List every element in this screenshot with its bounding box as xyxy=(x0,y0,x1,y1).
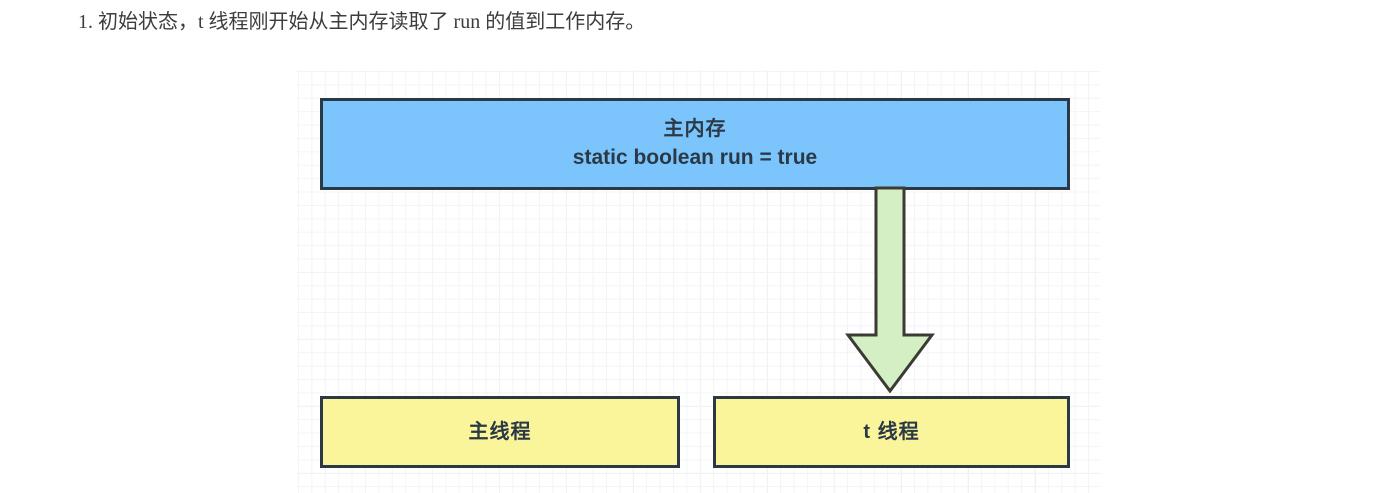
main-memory-declaration: static boolean run = true xyxy=(573,145,817,171)
main-memory-node: 主内存 static boolean run = true xyxy=(320,98,1070,190)
main-thread-node: 主线程 xyxy=(320,396,680,468)
read-arrow-icon xyxy=(846,188,934,393)
t-thread-node: t 线程 xyxy=(713,396,1070,468)
main-thread-label: 主线程 xyxy=(469,420,532,445)
memory-model-diagram: 主内存 static boolean run = true 主线程 t 线程 xyxy=(297,70,1100,493)
t-thread-label: t 线程 xyxy=(863,420,919,445)
main-memory-title: 主内存 xyxy=(664,117,727,142)
step-heading: 1. 初始状态，t 线程刚开始从主内存读取了 run 的值到工作内存。 xyxy=(78,8,645,36)
read-arrow xyxy=(846,188,934,393)
